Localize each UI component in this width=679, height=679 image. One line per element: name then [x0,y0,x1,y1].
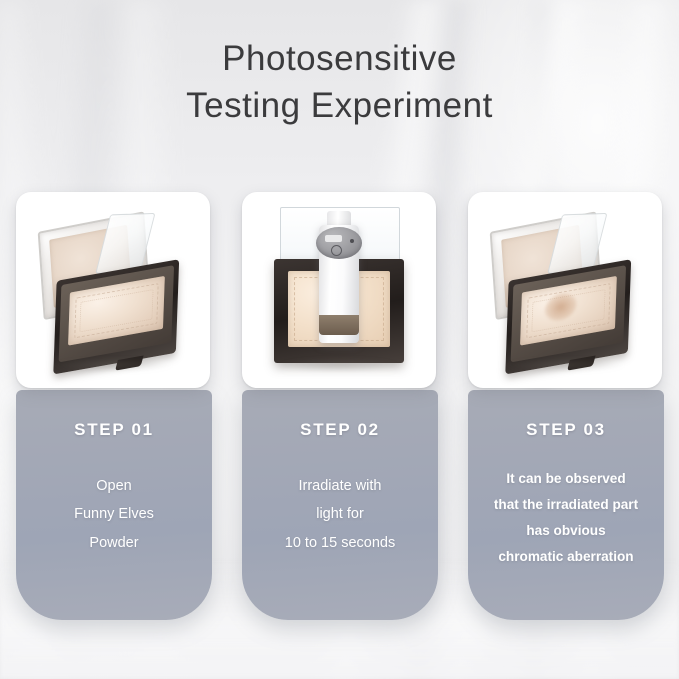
step-2-description-line-1: Irradiate with [248,472,432,500]
step-1-description-line-3: Powder [22,529,206,557]
compact-base-rim [59,265,174,362]
step-2-description-line-3: 10 to 15 seconds [248,529,432,557]
step-1-description: Open Funny Elves Powder [16,472,212,557]
step-1-description-line-2: Funny Elves [22,500,206,528]
step-1-label: STEP 01 [16,420,212,440]
uv-wand-head [316,227,362,259]
product-shadow [279,358,399,372]
step-2-photo-card [242,192,436,388]
compact-base-rim [511,265,626,362]
infographic-stage: Photosensitive Testing Experiment [0,0,679,679]
step-3-description-line-4: chromatic aberration [470,544,662,570]
product-shadow [53,358,173,372]
step-1-photo-card [16,192,210,388]
steps-row: STEP 01 Open Funny Elves Powder [16,192,664,620]
step-1-info-panel: STEP 01 Open Funny Elves Powder [16,390,212,620]
page-title-line-1: Photosensitive [0,36,679,83]
step-2-label: STEP 02 [242,420,438,440]
compact-powder-pan [520,276,617,346]
step-3-description-line-1: It can be observed [470,466,662,492]
product-shadow [505,358,625,372]
step-card-1: STEP 01 Open Funny Elves Powder [16,192,212,620]
uv-indicator-dot [350,239,354,243]
compact-powder-illustration-result [479,204,651,376]
step-3-label: STEP 03 [468,420,664,440]
step-card-3: STEP 03 It can be observed that the irra… [468,192,664,620]
step-3-description-line-3: has obvious [470,518,662,544]
page-title-line-2: Testing Experiment [0,83,679,130]
step-3-photo-card [468,192,662,388]
uv-light-device-image [242,192,436,388]
step-2-info-panel: STEP 02 Irradiate with light for 10 to 1… [242,390,438,620]
step-3-description: It can be observed that the irradiated p… [468,466,664,570]
uv-irradiation-illustration [272,207,406,373]
compact-powder-illustration [27,204,199,376]
step-card-2: STEP 02 Irradiate with light for 10 to 1… [242,192,438,620]
chromatic-aberration-image [468,192,662,388]
step-3-info-panel: STEP 03 It can be observed that the irra… [468,390,664,620]
step-1-description-line-1: Open [22,472,206,500]
uv-lamp-slot [325,235,342,242]
uv-power-button-icon [331,245,342,256]
compact-powder-pan [68,276,165,346]
step-2-description-line-2: light for [248,500,432,528]
uv-wand-collar [319,315,359,335]
page-title: Photosensitive Testing Experiment [0,36,679,130]
open-compact-powder-image [16,192,210,388]
step-3-description-line-2: that the irradiated part [470,492,662,518]
step-2-description: Irradiate with light for 10 to 15 second… [242,472,438,557]
